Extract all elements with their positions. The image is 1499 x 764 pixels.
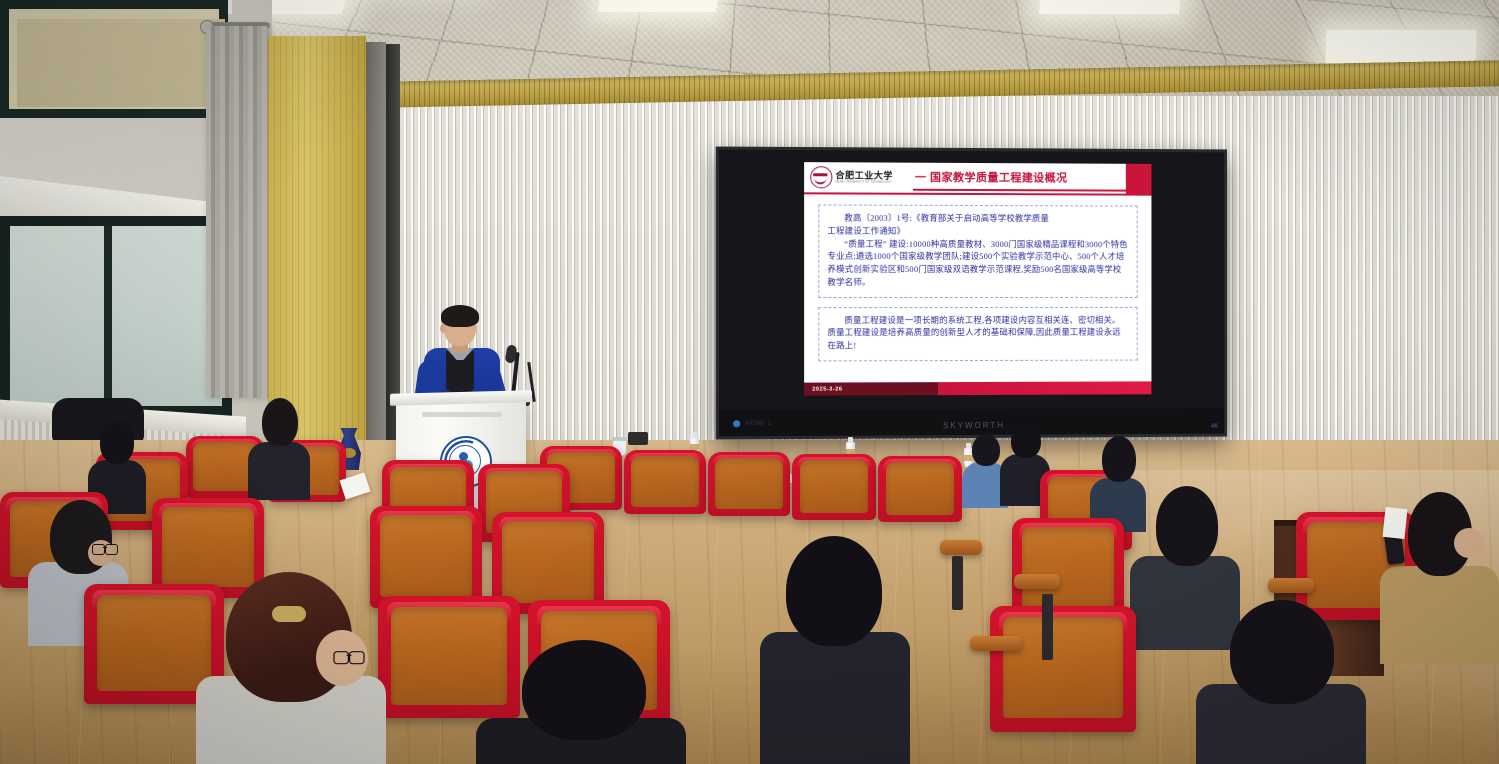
- policy-paragraph: “质量工程” 建设:10000种高质量教材、3000门国家级精品课程和3000个…: [827, 238, 1128, 289]
- power-led-icon: [733, 420, 740, 427]
- slide-footer: 2025-3-26: [804, 381, 1151, 395]
- window-mullion: [104, 226, 112, 406]
- slide-title: 一 国家教学质量工程建设概况: [915, 169, 1068, 186]
- seat-armrest: [940, 540, 982, 555]
- display-bezel: HDMI 1 SKYWORTH 4K: [719, 408, 1224, 437]
- slide-text-block-policy: 教高〔2003〕1号:《教育部关于启动高等学校教学质量 工程建设工作通知》 “质…: [818, 204, 1137, 297]
- header-red-block: [1126, 164, 1152, 194]
- seat[interactable]: [792, 454, 876, 520]
- slide-body: 教高〔2003〕1号:《教育部关于启动高等学校教学质量 工程建设工作通知》 “质…: [804, 194, 1151, 361]
- audience-member-front: [196, 572, 386, 764]
- seat-leg: [952, 556, 963, 610]
- window-lower: [0, 216, 232, 416]
- university-logo: 合肥工业大学 HEFEI UNIVERSITY OF TECHNOLOGY: [810, 165, 907, 190]
- audience-member-front: [760, 536, 910, 764]
- seat[interactable]: [624, 450, 706, 514]
- seat-armrest: [970, 636, 1022, 651]
- eyeglasses-icon: [333, 651, 364, 662]
- audience-member-front: [1196, 600, 1366, 764]
- notebook: [1382, 507, 1407, 539]
- eyeglasses-icon: [92, 544, 118, 553]
- ceiling-light-panel: [598, 0, 721, 12]
- summary-paragraph: 质量工程建设是一项长期的系统工程,各项建设内容互相关连、密切相关。质量工程建设是…: [827, 314, 1128, 353]
- presentation-slide: 合肥工业大学 HEFEI UNIVERSITY OF TECHNOLOGY 一 …: [804, 162, 1151, 396]
- ceiling-light-panel: [1039, 0, 1181, 14]
- wall-edge-column: [366, 42, 386, 456]
- seat-leg: [1042, 594, 1053, 660]
- cup-lid: [612, 437, 627, 441]
- audience-member-front: [476, 640, 686, 764]
- presenter-hair: [441, 305, 479, 327]
- window-view: [17, 19, 225, 107]
- projection-display[interactable]: 合肥工业大学 HEFEI UNIVERSITY OF TECHNOLOGY 一 …: [716, 147, 1227, 440]
- logo-emblem-icon: [810, 166, 832, 188]
- ceiling-light-panel: [1325, 30, 1476, 64]
- yellow-wood-wall-panel: [268, 36, 366, 456]
- title-underline: [913, 189, 1132, 192]
- footer-red-bar: [938, 381, 1151, 395]
- seat[interactable]: [708, 452, 790, 516]
- seat[interactable]: [370, 506, 482, 608]
- lectern-top-surface: [390, 390, 532, 406]
- slide-date-stamp: 2025-3-26: [804, 382, 938, 396]
- presenter-ear: [440, 324, 446, 333]
- display-input-label: HDMI 1: [745, 421, 772, 427]
- seat[interactable]: [990, 606, 1136, 732]
- logo-chinese-name: 合肥工业大学: [835, 171, 892, 180]
- audience-member: [248, 398, 310, 494]
- tabletop-device: [628, 432, 648, 445]
- curtain: [206, 26, 268, 398]
- lecture-hall-scene: 合肥工业大学 HEFEI UNIVERSITY OF TECHNOLOGY 一 …: [0, 0, 1499, 764]
- policy-line-1: 教高〔2003〕1号:《教育部关于启动高等学校教学质量: [827, 213, 1128, 227]
- slide-text-block-summary: 质量工程建设是一项长期的系统工程,各项建设内容互相关连、密切相关。质量工程建设是…: [818, 307, 1137, 362]
- policy-line-2: 工程建设工作通知》: [827, 225, 1128, 238]
- seat[interactable]: [878, 456, 962, 522]
- display-corner-label: 4K: [1211, 424, 1218, 430]
- window-upper: [0, 0, 228, 118]
- display-brand-label: SKYWORTH: [943, 421, 1005, 430]
- lectern-control-slot: [422, 412, 502, 417]
- seat-armrest: [1268, 578, 1314, 593]
- seat-armrest: [1014, 574, 1060, 589]
- slide-header: 合肥工业大学 HEFEI UNIVERSITY OF TECHNOLOGY 一 …: [804, 162, 1151, 196]
- logo-english-name: HEFEI UNIVERSITY OF TECHNOLOGY: [835, 181, 892, 184]
